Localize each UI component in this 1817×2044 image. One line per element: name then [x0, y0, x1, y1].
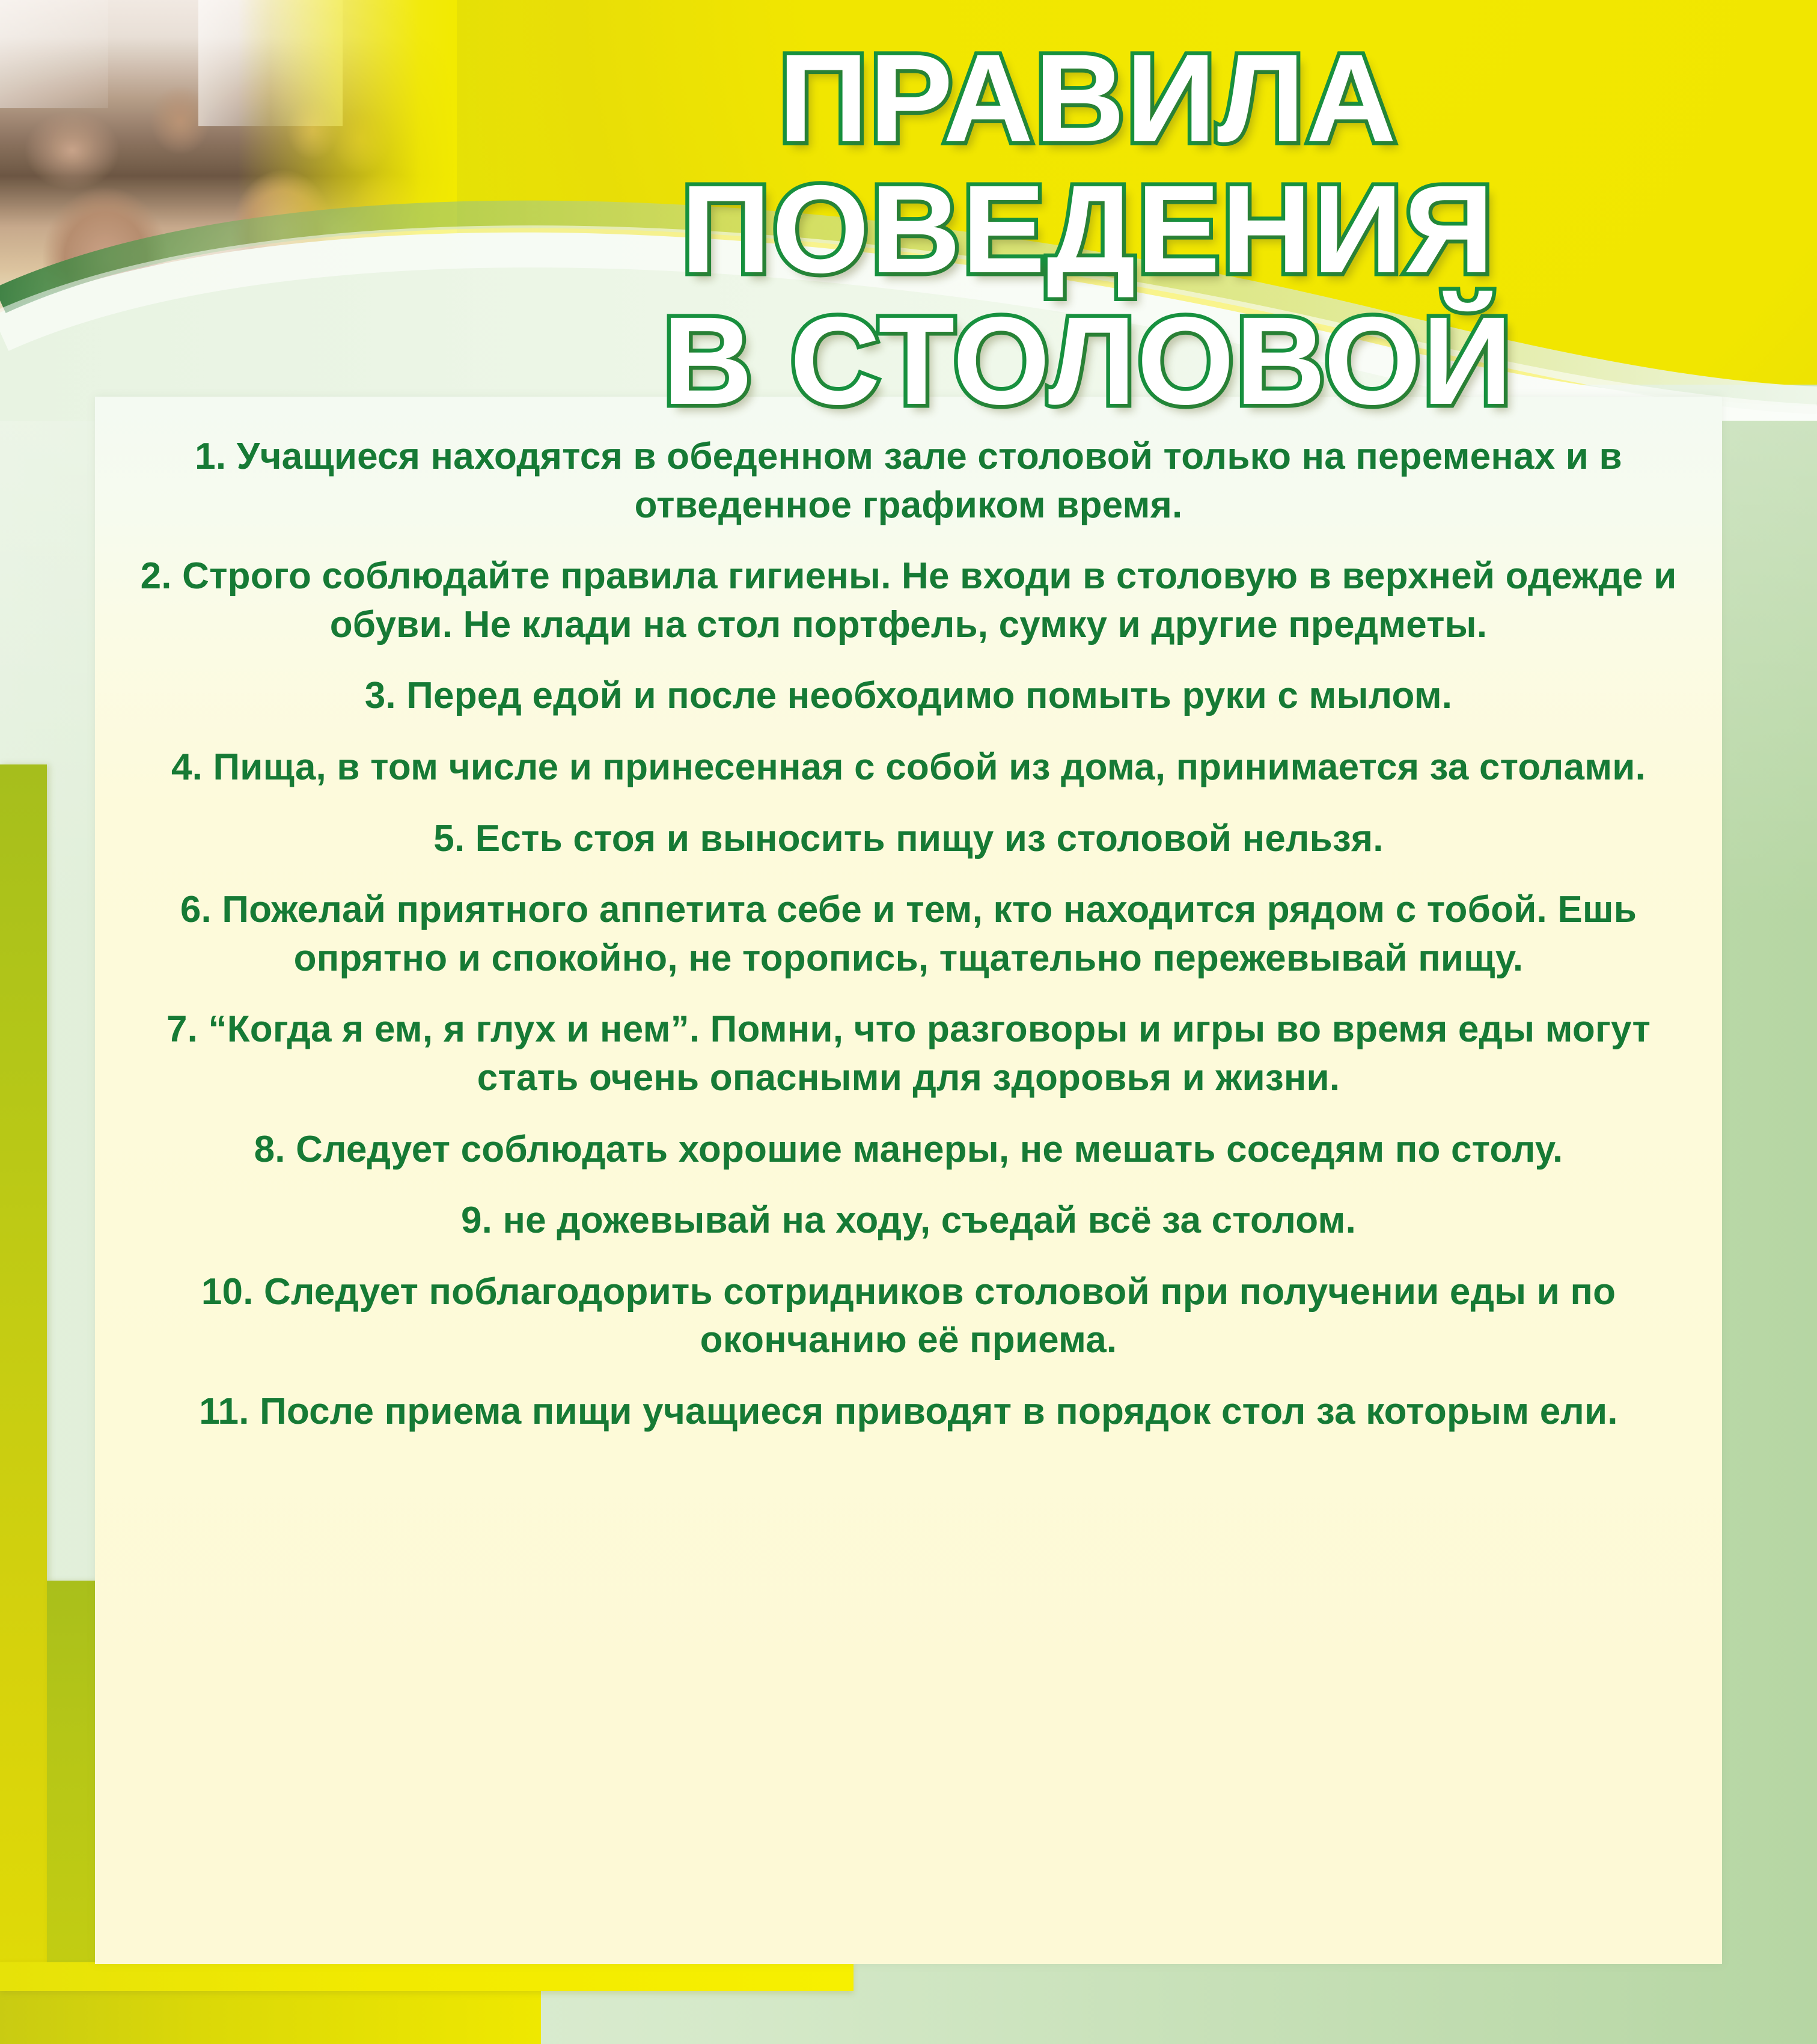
rule-item: 10. Следует поблагодорить сотридников ст… [131, 1268, 1686, 1365]
page-title: ПРАВИЛА ПОВЕДЕНИЯ В СТОЛОВОЙ [385, 33, 1791, 427]
rule-item: 1. Учащиеся находятся в обеденном зале с… [131, 433, 1686, 529]
left-accent-bar-inner [47, 1581, 95, 1978]
rule-item: 7. “Когда я ем, я глух и нем”. Помни, чт… [131, 1005, 1686, 1102]
rule-item: 11. После приема пищи учащиеся приводят … [131, 1388, 1686, 1436]
title-line-1: ПРАВИЛА ПОВЕДЕНИЯ [681, 29, 1495, 299]
rule-item: 5. Есть стоя и выносить пищу из столовой… [131, 815, 1686, 864]
rule-item: 3. Перед едой и после необходимо помыть … [131, 672, 1686, 721]
rule-item: 4. Пища, в том числе и принесенная с соб… [131, 743, 1686, 792]
rules-list: 1. Учащиеся находятся в обеденном зале с… [95, 421, 1722, 1459]
bottom-accent-bar-lower [0, 1991, 541, 2044]
rule-item: 6. Пожелай приятного аппетита себе и тем… [131, 886, 1686, 983]
poster-root: ПРАВИЛА ПОВЕДЕНИЯ В СТОЛОВОЙ 1. Учащиеся… [0, 0, 1817, 2044]
rule-item: 2. Строго соблюдайте правила гигиены. Не… [131, 552, 1686, 649]
bottom-accent-bar-upper [0, 1962, 854, 1991]
rule-item: 9. не дожевывай на ходу, съедай всё за с… [131, 1197, 1686, 1245]
left-accent-bar-outer [0, 764, 47, 2044]
rule-item: 8. Следует соблюдать хорошие манеры, не … [131, 1126, 1686, 1174]
title-line-2: В СТОЛОВОЙ [385, 296, 1791, 427]
